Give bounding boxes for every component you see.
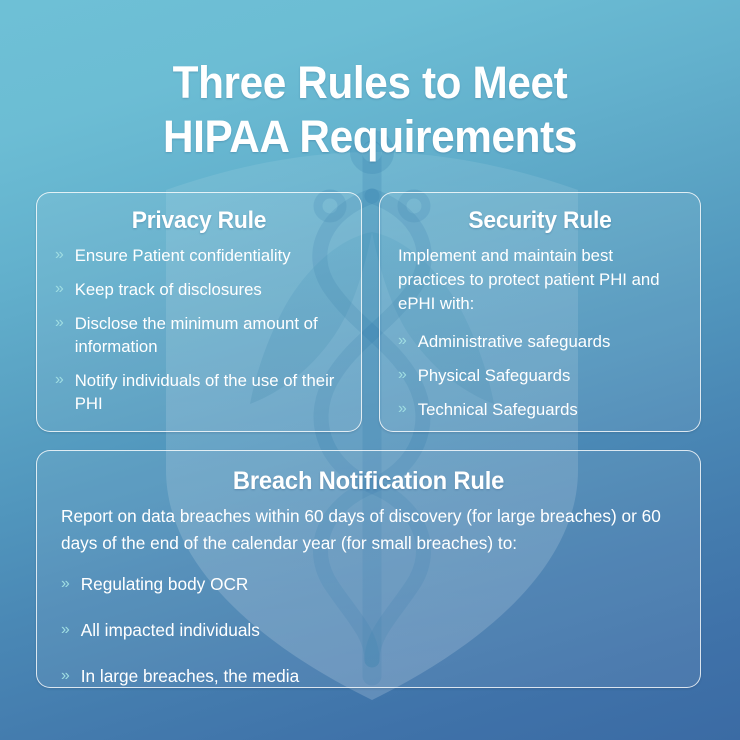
chevron-double-right-icon: » xyxy=(61,618,70,641)
list-item: » Notify individuals of the use of their… xyxy=(55,369,341,415)
card-body-privacy-rule: » Ensure Patient confidentiality » Keep … xyxy=(37,244,361,415)
breach-rule-bullet-list: » Regulating body OCR » All impacted ind… xyxy=(61,573,678,688)
list-item-label: Ensure Patient confidentiality xyxy=(75,246,291,265)
chevron-double-right-icon: » xyxy=(398,363,407,386)
chevron-double-right-icon: » xyxy=(61,572,70,595)
list-item-label: Administrative safeguards xyxy=(418,332,611,351)
list-item-label: Notify individuals of the use of their P… xyxy=(75,371,335,413)
list-item: » In large breaches, the media xyxy=(61,665,669,688)
chevron-double-right-icon: » xyxy=(55,243,64,266)
hipaa-rules-infographic: Three Rules to Meet HIPAA Requirements P… xyxy=(0,0,740,740)
security-rule-bullet-list: » Administrative safeguards » Physical S… xyxy=(398,330,684,421)
chevron-double-right-icon: » xyxy=(55,368,64,391)
list-item-label: Regulating body OCR xyxy=(81,574,249,594)
list-item-label: In large breaches, the media xyxy=(81,666,299,686)
list-item-label: All impacted individuals xyxy=(81,620,260,640)
breach-rule-intro-text: Report on data breaches within 60 days o… xyxy=(61,503,669,557)
card-title-privacy-rule: Privacy Rule xyxy=(45,193,353,244)
list-item-label: Keep track of disclosures xyxy=(75,280,262,299)
chevron-double-right-icon: » xyxy=(398,329,407,352)
privacy-rule-bullet-list: » Ensure Patient confidentiality » Keep … xyxy=(55,244,345,415)
security-rule-intro-text: Implement and maintain best practices to… xyxy=(398,244,680,316)
chevron-double-right-icon: » xyxy=(398,397,407,420)
card-title-breach-notification-rule: Breach Notification Rule xyxy=(54,451,684,503)
list-item: » Keep track of disclosures xyxy=(55,278,341,301)
list-item: » Disclose the minimum amount of informa… xyxy=(55,312,341,358)
list-item: » Technical Safeguards xyxy=(398,398,680,421)
card-breach-notification-rule: Breach Notification Rule Report on data … xyxy=(36,450,701,688)
card-privacy-rule: Privacy Rule » Ensure Patient confidenti… xyxy=(36,192,362,432)
chevron-double-right-icon: » xyxy=(55,311,64,334)
card-body-security-rule: Implement and maintain best practices to… xyxy=(380,244,700,421)
list-item-label: Physical Safeguards xyxy=(418,366,571,385)
card-body-breach-notification-rule: Report on data breaches within 60 days o… xyxy=(37,503,700,688)
list-item-label: Technical Safeguards xyxy=(418,400,578,419)
chevron-double-right-icon: » xyxy=(61,664,70,687)
card-title-security-rule: Security Rule xyxy=(388,193,692,244)
list-item: » Administrative safeguards xyxy=(398,330,680,353)
list-item: » All impacted individuals xyxy=(61,619,669,642)
chevron-double-right-icon: » xyxy=(55,277,64,300)
list-item: » Physical Safeguards xyxy=(398,364,680,387)
list-item: » Ensure Patient confidentiality xyxy=(55,244,341,267)
list-item: » Regulating body OCR xyxy=(61,573,669,596)
rule-cards-container: Privacy Rule » Ensure Patient confidenti… xyxy=(0,0,740,740)
list-item-label: Disclose the minimum amount of informati… xyxy=(75,314,318,356)
card-security-rule: Security Rule Implement and maintain bes… xyxy=(379,192,701,432)
